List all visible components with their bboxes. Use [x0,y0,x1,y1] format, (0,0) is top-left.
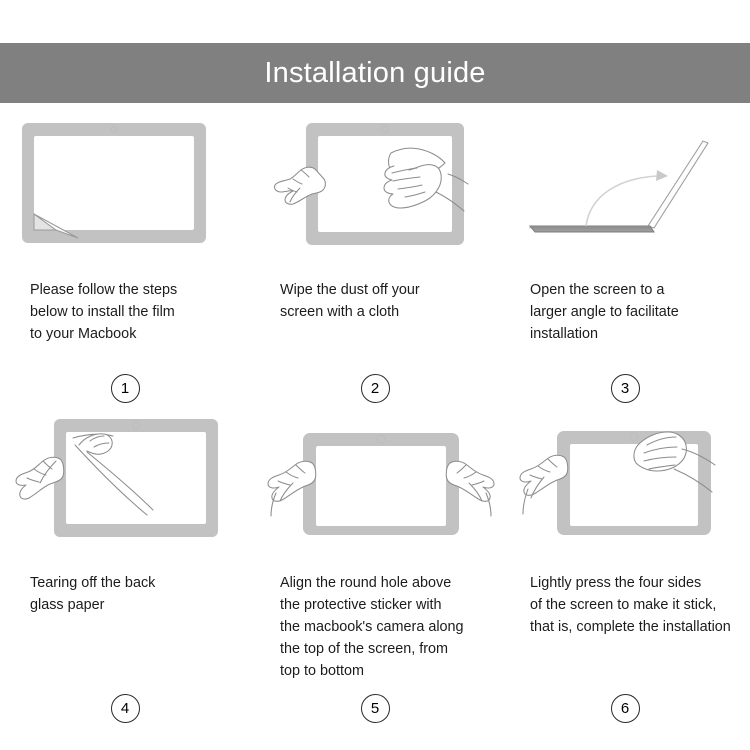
step-2-badge-row: 2 [268,360,482,403]
step-number-badge-6: 6 [611,694,640,723]
step-card-3: Open the screen to a larger angle to fac… [500,110,750,403]
hands-wiping-screen-icon [268,118,498,253]
step-card-6: Lightly press the four sides of the scre… [500,403,750,723]
step-3-illustration [518,118,732,253]
step-6-text: Lightly press the four sides of the scre… [518,572,732,638]
step-2-text: Wipe the dust off your screen with a clo… [268,279,482,323]
step-number-badge-2: 2 [361,374,390,403]
step-number-badge-4: 4 [111,694,140,723]
step-1-text: Please follow the steps below to install… [18,279,232,345]
page-title: Installation guide [264,59,485,88]
two-hands-aligning-film-icon [268,411,496,546]
step-3-badge-row: 3 [518,360,732,403]
laptop-opening-side-view-icon [518,118,743,253]
installation-guide-header: Installation guide [0,43,750,103]
step-1-badge-row: 1 [18,360,232,403]
step-6-badge-row: 6 [518,682,732,723]
step-card-2: Wipe the dust off your screen with a clo… [250,110,500,403]
step-5-text: Align the round hole above the protectiv… [268,572,482,682]
steps-grid: Please follow the steps below to install… [0,110,750,723]
step-4-illustration [18,411,232,546]
tablet-with-peeling-film-icon [18,118,232,253]
step-3-text: Open the screen to a larger angle to fac… [518,279,732,345]
step-number-badge-3: 3 [611,374,640,403]
step-4-text: Tearing off the back glass paper [18,572,232,616]
hands-tearing-back-paper-icon [18,411,244,546]
step-number-badge-5: 5 [361,694,390,723]
step-4-badge-row: 4 [18,682,232,723]
hand-pressing-screen-sides-icon [518,411,746,546]
step-card-1: Please follow the steps below to install… [0,110,250,403]
step-5-illustration [268,411,482,546]
step-1-illustration [18,118,232,253]
step-number-badge-1: 1 [111,374,140,403]
step-card-4: Tearing off the back glass paper 4 [0,403,250,723]
step-2-illustration [268,118,482,253]
step-5-badge-row: 5 [268,682,482,723]
step-6-illustration [518,411,732,546]
step-card-5: Align the round hole above the protectiv… [250,403,500,723]
